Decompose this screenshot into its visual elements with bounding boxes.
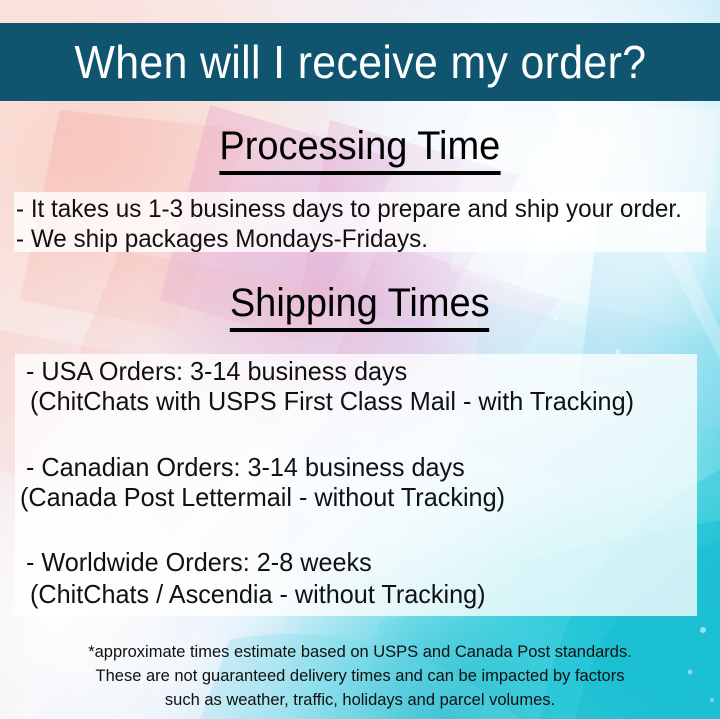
footnote-line-3: such as weather, traffic, holidays and p… <box>11 688 709 712</box>
shipping-entry-canada-primary: - Canadian Orders: 3-14 business days <box>26 453 465 482</box>
faq-shipping-poster: When will I receive my order? Processing… <box>0 0 720 719</box>
footnote-line-1: *approximate times estimate based on USP… <box>11 640 709 664</box>
shipping-entry-usa-secondary: (ChitChats with USPS First Class Mail - … <box>30 387 634 416</box>
shipping-entry-canada-secondary: (Canada Post Lettermail - without Tracki… <box>20 483 505 512</box>
section-heading-processing-time: Processing Time <box>0 126 720 175</box>
footnote-disclaimer: *approximate times estimate based on USP… <box>0 640 720 712</box>
processing-time-line-1: - It takes us 1-3 business days to prepa… <box>16 196 682 223</box>
section-heading-shipping-times-label: Shipping Times <box>230 283 490 332</box>
footnote-line-2: These are not guaranteed delivery times … <box>11 664 709 688</box>
section-heading-shipping-times: Shipping Times <box>0 283 720 332</box>
shipping-entry-worldwide-primary: - Worldwide Orders: 2-8 weeks <box>26 548 372 577</box>
header-banner: When will I receive my order? <box>0 23 720 101</box>
shipping-entry-usa-primary: - USA Orders: 3-14 business days <box>26 357 407 386</box>
shipping-entry-worldwide-secondary: (ChitChats / Ascendia - without Tracking… <box>30 580 486 609</box>
section-heading-processing-time-label: Processing Time <box>220 126 501 175</box>
processing-time-line-2: - We ship packages Mondays-Fridays. <box>16 226 428 253</box>
page-title: When will I receive my order? <box>74 39 646 85</box>
